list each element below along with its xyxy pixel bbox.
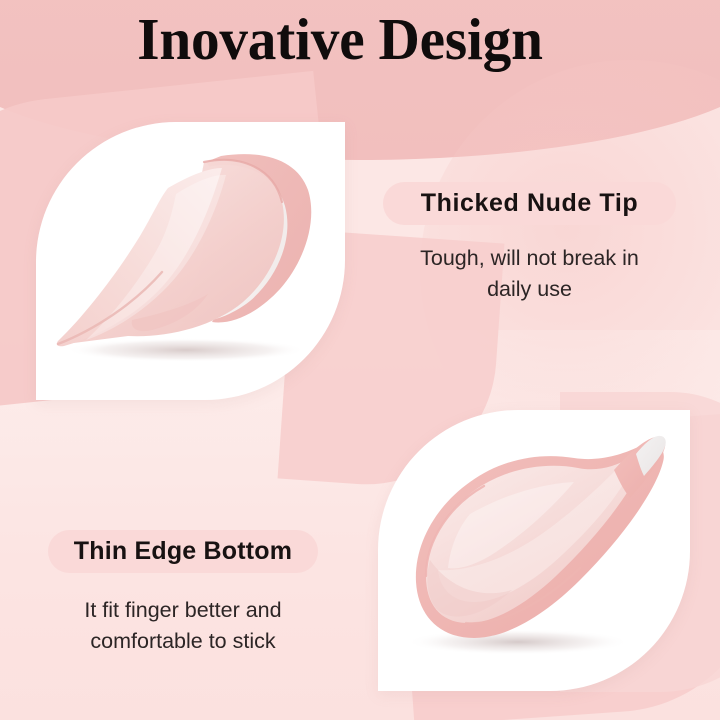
feature-thin-edge-bottom: Thin Edge Bottom It fit finger better an… (48, 530, 318, 657)
feature-badge-thin-edge-bottom: Thin Edge Bottom (48, 530, 318, 573)
feature-badge-thicked-nude-tip: Thicked Nude Tip (383, 182, 676, 225)
feature-thicked-nude-tip: Thicked Nude Tip Tough, will not break i… (383, 182, 676, 305)
product-feature-poster: Inovative Design (0, 0, 720, 720)
feature-description-thicked-nude-tip: Tough, will not break in daily use (383, 243, 676, 305)
product-photo-nail-tip-side (36, 122, 345, 400)
product-photo-nail-tip-bottom (378, 410, 690, 691)
feature-description-thin-edge-bottom: It fit finger better and comfortable to … (48, 595, 318, 657)
page-title: Inovative Design (10, 8, 670, 72)
